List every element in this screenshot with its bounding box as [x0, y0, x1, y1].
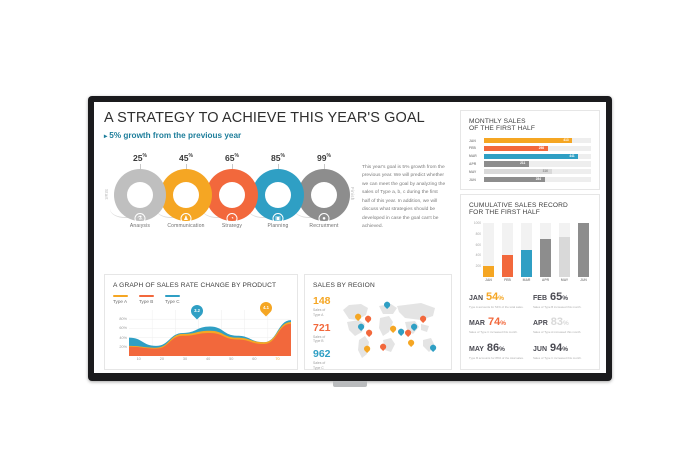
sales-rate-y-axis: 20%40%60%80% — [113, 310, 129, 356]
percent-cell-month: JAN — [469, 295, 483, 302]
cumulative-bar-chart: 2004006008001000 JANFEBMARAPRMAYJUN — [469, 223, 591, 283]
cumulative-bar-fill — [521, 250, 532, 277]
region-stat-value: 721 — [313, 323, 333, 334]
cumulative-title-line1: CUMULATIVE SALES RECORD — [469, 202, 591, 209]
donut-hole — [311, 182, 337, 208]
monthly-bar-fill — [484, 138, 572, 143]
x-tick: 20 — [160, 357, 164, 361]
page-title: A STRATEGY TO ACHIEVE THIS YEAR'S GOAL — [104, 110, 452, 126]
process-percent-2: 45% — [166, 153, 206, 163]
cumulative-plot — [483, 223, 591, 277]
region-stat-label: Sales of Type B — [313, 335, 333, 345]
x-tick: 30 — [183, 357, 187, 361]
cumulative-y-axis: 2004006008001000 — [469, 223, 482, 277]
monthly-bar-track: 316 — [484, 169, 591, 174]
legend-label: Type C — [165, 299, 180, 304]
cumulative-y-tick: 600 — [476, 243, 481, 247]
cumulative-x-tick: APR — [540, 278, 551, 282]
monthly-bar-value: 284 — [536, 177, 541, 182]
donut-hole — [265, 182, 291, 208]
data-marker-value: 4.1 — [260, 302, 272, 314]
cumulative-y-tick: 1000 — [474, 221, 481, 225]
percent-cell-desc: Sales of Type A increased this month. — [533, 330, 591, 334]
monthly-bar-track: 211 — [484, 161, 591, 166]
monthly-bar-value: 298 — [539, 146, 544, 151]
clock-icon: ◔ — [227, 213, 238, 224]
cumulative-bar-fill — [578, 223, 589, 277]
percent-cell-top: MAR74% — [469, 317, 527, 328]
legend-item-type-a: Type A — [113, 295, 128, 304]
cumulative-bar-fill — [502, 255, 513, 277]
percent-cell-desc: Sales of Type B increased this month. — [533, 305, 591, 309]
process-step-3[interactable]: Option 02◔ — [206, 169, 258, 221]
percent-cell-month: APR — [533, 320, 548, 327]
percent-cell-month: MAR — [469, 320, 485, 327]
x-tick: 70 — [275, 357, 279, 361]
cumulative-x-tick: JAN — [483, 278, 494, 282]
sales-rate-title: A GRAPH OF SALES RATE CHANGE BY PRODUCT — [113, 282, 289, 289]
percent-cell-value: 94% — [550, 343, 568, 354]
donut-hole — [127, 182, 153, 208]
cumulative-sales-card: CUMULATIVE SALES RECORD FOR THE FIRST HA… — [460, 194, 600, 370]
legend-item-type-b: Type B — [139, 295, 154, 304]
percent-cell-desc: Type B accounts for 86% of the total sal… — [469, 356, 527, 360]
monthly-bar-value: 211 — [520, 161, 525, 166]
caret-icon: ▸ — [104, 133, 107, 140]
x-tick: 10 — [137, 357, 141, 361]
monthly-bar-label: JAN — [469, 139, 484, 143]
cumulative-bar-fill — [559, 237, 570, 278]
monthly-percent-grid: JAN54%Type A accounts for 54% of the tot… — [469, 292, 591, 360]
monthly-bar-value: 316 — [543, 169, 548, 174]
person-icon: ♟ — [181, 213, 192, 224]
region-stat-list: 148Sales of Type A721Sales of Type B962S… — [313, 296, 333, 373]
slide-subtitle: ▸5% growth from the previous year — [104, 131, 452, 140]
cumulative-y-tick: 400 — [476, 253, 481, 257]
percent-cell-value: 74% — [488, 317, 506, 328]
x-tick: 50 — [229, 357, 233, 361]
percent-cell-top: JAN54% — [469, 292, 527, 303]
percent-cell-desc: Sales of Type C increased this month. — [533, 356, 591, 360]
monitor-frame: A STRATEGY TO ACHIEVE THIS YEAR'S GOAL ▸… — [88, 96, 612, 381]
sales-rate-card: A GRAPH OF SALES RATE CHANGE BY PRODUCT … — [104, 274, 298, 370]
cumulative-x-tick: JUN — [578, 278, 589, 282]
cumulative-bar-jun[interactable] — [578, 223, 589, 277]
monthly-bar-row: JUN284 — [469, 177, 591, 182]
monthly-bar-label: MAR — [469, 154, 484, 158]
region-stat-3: 962Sales of Type C — [313, 349, 333, 371]
donut-hole — [219, 182, 245, 208]
percent-cell-month: MAY — [469, 346, 484, 353]
cumulative-x-tick: MAR — [521, 278, 532, 282]
donut-hole — [173, 182, 199, 208]
sales-by-region-body: 148Sales of Type A721Sales of Type B962S… — [313, 296, 443, 373]
sales-by-region-title: SALES BY REGION — [313, 282, 443, 289]
region-stat-2: 721Sales of Type B — [313, 323, 333, 345]
percent-cell-top: JUN94% — [533, 343, 591, 354]
flask-icon: ⚗ — [135, 213, 146, 224]
percent-cell-month: FEB — [533, 295, 547, 302]
process-percent-3: 65% — [212, 153, 252, 163]
process-step-2[interactable]: Option 01♟ — [160, 169, 212, 221]
region-stat-value: 148 — [313, 296, 333, 307]
sales-rate-x-axis: 10203040506070 — [129, 357, 291, 365]
monthly-bar-row: FEB298 — [469, 146, 591, 151]
cumulative-bar-jan[interactable] — [483, 223, 494, 277]
cumulative-y-tick: 200 — [476, 264, 481, 268]
legend-item-type-c: Type C — [165, 295, 180, 304]
percent-cell-value: 83% — [551, 317, 569, 328]
world-map — [335, 296, 443, 362]
region-stat-value: 962 — [313, 349, 333, 360]
monthly-bar-row: APR211 — [469, 161, 591, 166]
monthly-bar-row: MAR441 — [469, 154, 591, 159]
process-percent-1: 25% — [120, 153, 160, 163]
y-tick: 80% — [119, 317, 127, 321]
sales-rate-chart: 20%40%60%80% 3.24.1 10203040506070 — [113, 310, 291, 366]
cumulative-bar-mar[interactable] — [521, 223, 532, 277]
cumulative-x-tick: MAY — [559, 278, 570, 282]
monthly-bar-row: MAY316 — [469, 169, 591, 174]
monthly-sales-title-line2: OF THE FIRST HALF — [469, 125, 591, 132]
sales-rate-plot: 3.24.1 — [129, 310, 291, 356]
monthly-bar-label: APR — [469, 162, 484, 166]
percent-cell-feb: FEB65%Sales of Type B increased this mon… — [533, 292, 591, 309]
sales-by-region-card: SALES BY REGION 148Sales of Type A721Sal… — [304, 274, 452, 370]
process-start-label: Start — [104, 189, 109, 200]
percent-cell-desc: Sales of Type C increased this month. — [469, 330, 527, 334]
percent-cell-jun: JUN94%Sales of Type C increased this mon… — [533, 343, 591, 360]
monthly-bar-value: 441 — [569, 154, 574, 159]
cumulative-x-axis: JANFEBMARAPRMAYJUN — [483, 278, 591, 286]
legend-swatch — [165, 295, 180, 297]
monitor-stand — [333, 381, 367, 387]
process-percent-5: 99% — [304, 153, 344, 163]
monthly-bar-label: JUN — [469, 178, 484, 182]
percent-cell-mar: MAR74%Sales of Type C increased this mon… — [469, 317, 527, 334]
monthly-bar-fill — [484, 154, 578, 159]
y-tick: 40% — [119, 336, 127, 340]
monthly-bar-row: JAN413 — [469, 138, 591, 143]
region-stat-1: 148Sales of Type A — [313, 296, 333, 318]
cumulative-title-line2: FOR THE FIRST HALF — [469, 209, 591, 216]
region-stat-label: Sales of Type C — [313, 361, 333, 371]
monthly-bar-track: 441 — [484, 154, 591, 159]
x-tick: 60 — [252, 357, 256, 361]
cumulative-bar-may[interactable] — [559, 223, 570, 277]
monthly-bar-value: 413 — [563, 138, 568, 143]
monthly-bar-track: 284 — [484, 177, 591, 182]
y-tick: 60% — [119, 326, 127, 330]
percent-cell-top: APR83% — [533, 317, 591, 328]
cumulative-bar-apr[interactable] — [540, 223, 551, 277]
slide-subtitle-text: 5% growth from the previous year — [109, 131, 241, 140]
bulb-icon: ● — [319, 213, 330, 224]
x-tick: 40 — [206, 357, 210, 361]
percent-cell-desc: Type A accounts for 54% of the total sal… — [469, 305, 527, 309]
process-step-4[interactable]: Option 03▣ — [252, 169, 304, 221]
monthly-sales-bars: JAN413FEB298MAR441APR211MAY316JUN284 — [469, 138, 591, 182]
percent-cell-top: MAY86% — [469, 343, 527, 354]
process-option-label-2: Option 01 — [158, 190, 214, 195]
calendar-icon: ▣ — [273, 213, 284, 224]
cumulative-bar-fill — [483, 266, 494, 277]
percent-cell-top: FEB65% — [533, 292, 591, 303]
percent-cell-apr: APR83%Sales of Type A increased this mon… — [533, 317, 591, 334]
process-step-1[interactable]: ⚗ — [114, 169, 166, 221]
presentation-slide: A STRATEGY TO ACHIEVE THIS YEAR'S GOAL ▸… — [94, 102, 606, 373]
data-marker-1: 3.2 — [189, 303, 206, 320]
percent-cell-jan: JAN54%Type A accounts for 54% of the tot… — [469, 292, 527, 309]
monthly-bar-track: 298 — [484, 146, 591, 151]
cumulative-bar-feb[interactable] — [502, 223, 513, 277]
goal-description: This year's goal is 5% growth from the p… — [362, 164, 446, 232]
monthly-bar-fill — [484, 169, 552, 174]
legend-label: Type A — [113, 299, 128, 304]
monthly-bar-label: FEB — [469, 146, 484, 150]
data-marker-2: 4.1 — [258, 300, 275, 317]
monthly-sales-card: MONTHLY SALES OF THE FIRST HALF JAN413FE… — [460, 110, 600, 190]
y-tick: 20% — [119, 345, 127, 349]
cumulative-x-tick: FEB — [502, 278, 513, 282]
monthly-bar-track: 413 — [484, 138, 591, 143]
percent-cell-month: JUN — [533, 346, 547, 353]
process-step-5[interactable]: Option 04● — [298, 169, 350, 221]
percent-cell-value: 86% — [487, 343, 505, 354]
cumulative-bar-fill — [540, 239, 551, 277]
monthly-sales-title-line1: MONTHLY SALES — [469, 118, 591, 125]
monitor-screen: A STRATEGY TO ACHIEVE THIS YEAR'S GOAL ▸… — [94, 102, 606, 373]
percent-cell-value: 54% — [486, 292, 504, 303]
legend-swatch — [139, 295, 154, 297]
percent-cell-may: MAY86%Type B accounts for 86% of the tot… — [469, 343, 527, 360]
data-marker-value: 3.2 — [191, 305, 203, 317]
cumulative-y-tick: 800 — [476, 232, 481, 236]
region-stat-label: Sales of Type A — [313, 308, 333, 318]
monthly-bar-label: MAY — [469, 170, 484, 174]
percent-cell-value: 65% — [550, 292, 568, 303]
legend-label: Type B — [139, 299, 154, 304]
process-percent-4: 85% — [258, 153, 298, 163]
legend-swatch — [113, 295, 128, 297]
